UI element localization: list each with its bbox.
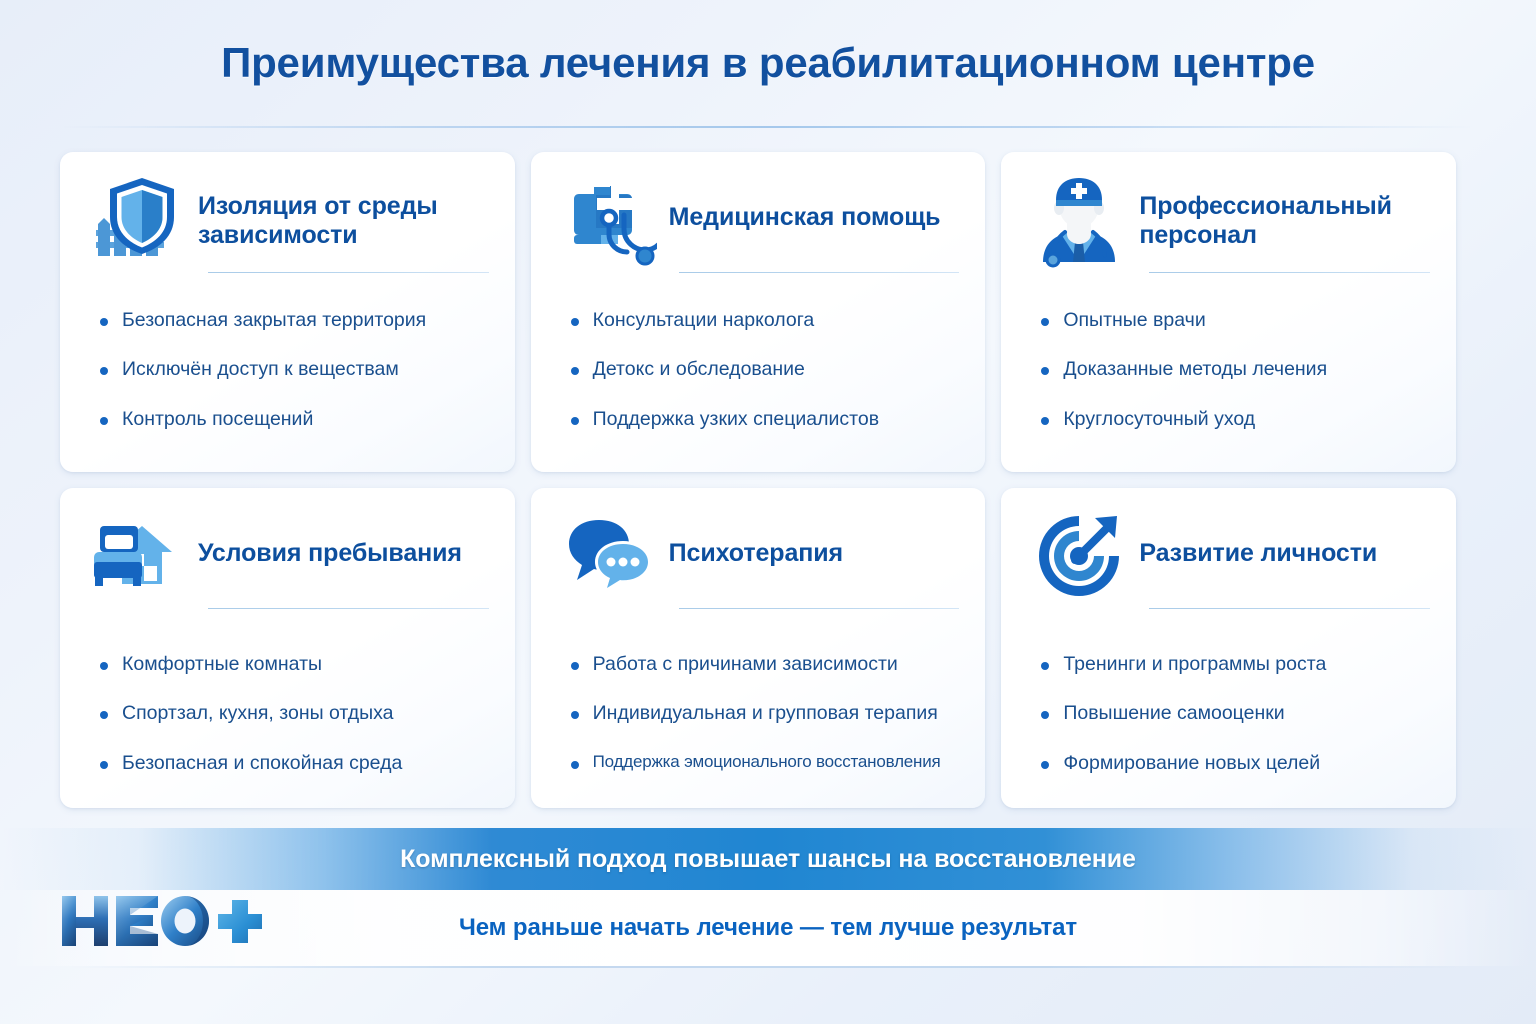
list-item: Безопасная и спокойная среда xyxy=(98,751,489,775)
card-header: Развитие личности xyxy=(1031,512,1430,608)
page-title: Преимущества лечения в реабилитационном … xyxy=(221,39,1315,87)
doctor-icon xyxy=(1031,172,1127,268)
list-item: Исключён доступ к веществам xyxy=(98,357,489,381)
header-divider xyxy=(62,126,1474,128)
list-item: Повышение самооценки xyxy=(1039,701,1430,725)
card-title: Изоляция от среды зависимости xyxy=(198,176,489,250)
card-bullet-list: Безопасная закрытая территория Исключён … xyxy=(90,308,489,431)
footer-subtitle: Чем раньше начать лечение — тем лучше ре… xyxy=(459,914,1077,942)
benefit-card-personal-growth[interactable]: Развитие личности Тренинги и программы р… xyxy=(1001,488,1456,808)
card-bullet-list: Тренинги и программы роста Повышение сам… xyxy=(1031,652,1430,775)
card-header: Медицинская помощь xyxy=(561,176,960,272)
list-item: Круглосуточный уход xyxy=(1039,407,1430,431)
card-bullet-list: Работа с причинами зависимости Индивидуа… xyxy=(561,652,960,772)
footer-divider xyxy=(70,966,1466,968)
list-item: Спортзал, кухня, зоны отдыха xyxy=(98,701,489,725)
card-header: Изоляция от среды зависимости xyxy=(90,176,489,272)
benefits-card-grid: Изоляция от среды зависимости Безопасная… xyxy=(60,152,1456,808)
card-divider xyxy=(679,272,960,273)
card-title: Развитие личности xyxy=(1139,512,1377,568)
card-title: Условия пребывания xyxy=(198,512,462,568)
list-item: Поддержка эмоционального восстановления xyxy=(569,751,960,772)
card-title: Психотерапия xyxy=(669,512,843,568)
footer-banner: Комплексный подход повышает шансы на вос… xyxy=(0,828,1536,890)
medical-kit-stethoscope-icon xyxy=(561,172,657,268)
bed-house-icon xyxy=(90,508,186,604)
brand-logo[interactable] xyxy=(56,884,266,956)
card-header: Психотерапия xyxy=(561,512,960,608)
list-item: Опытные врачи xyxy=(1039,308,1430,332)
card-header: Профессиональный персонал xyxy=(1031,176,1430,272)
card-header: Условия пребывания xyxy=(90,512,489,608)
card-divider xyxy=(208,272,489,273)
list-item: Доказанные методы лечения xyxy=(1039,357,1430,381)
card-title: Профессиональный персонал xyxy=(1139,176,1430,250)
shield-fence-icon xyxy=(90,172,186,268)
list-item: Работа с причинами зависимости xyxy=(569,652,960,676)
page-header: Преимущества лечения в реабилитационном … xyxy=(0,0,1536,126)
benefit-card-medical-help[interactable]: Медицинская помощь Консультации нарколог… xyxy=(531,152,986,472)
card-divider xyxy=(208,608,489,609)
list-item: Тренинги и программы роста xyxy=(1039,652,1430,676)
list-item: Безопасная закрытая территория xyxy=(98,308,489,332)
list-item: Комфортные комнаты xyxy=(98,652,489,676)
card-title: Медицинская помощь xyxy=(669,176,941,232)
benefit-card-isolation[interactable]: Изоляция от среды зависимости Безопасная… xyxy=(60,152,515,472)
benefit-card-accommodation[interactable]: Условия пребывания Комфортные комнаты Сп… xyxy=(60,488,515,808)
list-item: Консультации нарколога xyxy=(569,308,960,332)
list-item: Детокс и обследование xyxy=(569,357,960,381)
card-divider xyxy=(1149,608,1430,609)
card-divider xyxy=(679,608,960,609)
card-bullet-list: Опытные врачи Доказанные методы лечения … xyxy=(1031,308,1430,431)
list-item: Индивидуальная и групповая терапия xyxy=(569,701,960,725)
benefit-card-professional-staff[interactable]: Профессиональный персонал Опытные врачи … xyxy=(1001,152,1456,472)
footer-banner-text: Комплексный подход повышает шансы на вос… xyxy=(400,845,1136,874)
list-item: Поддержка узких специалистов xyxy=(569,407,960,431)
card-divider xyxy=(1149,272,1430,273)
card-bullet-list: Консультации нарколога Детокс и обследов… xyxy=(561,308,960,431)
list-item: Контроль посещений xyxy=(98,407,489,431)
target-arrow-icon xyxy=(1031,508,1127,604)
list-item: Формирование новых целей xyxy=(1039,751,1430,775)
benefit-card-psychotherapy[interactable]: Психотерапия Работа с причинами зависимо… xyxy=(531,488,986,808)
card-bullet-list: Комфортные комнаты Спортзал, кухня, зоны… xyxy=(90,652,489,775)
speech-bubbles-icon xyxy=(561,508,657,604)
